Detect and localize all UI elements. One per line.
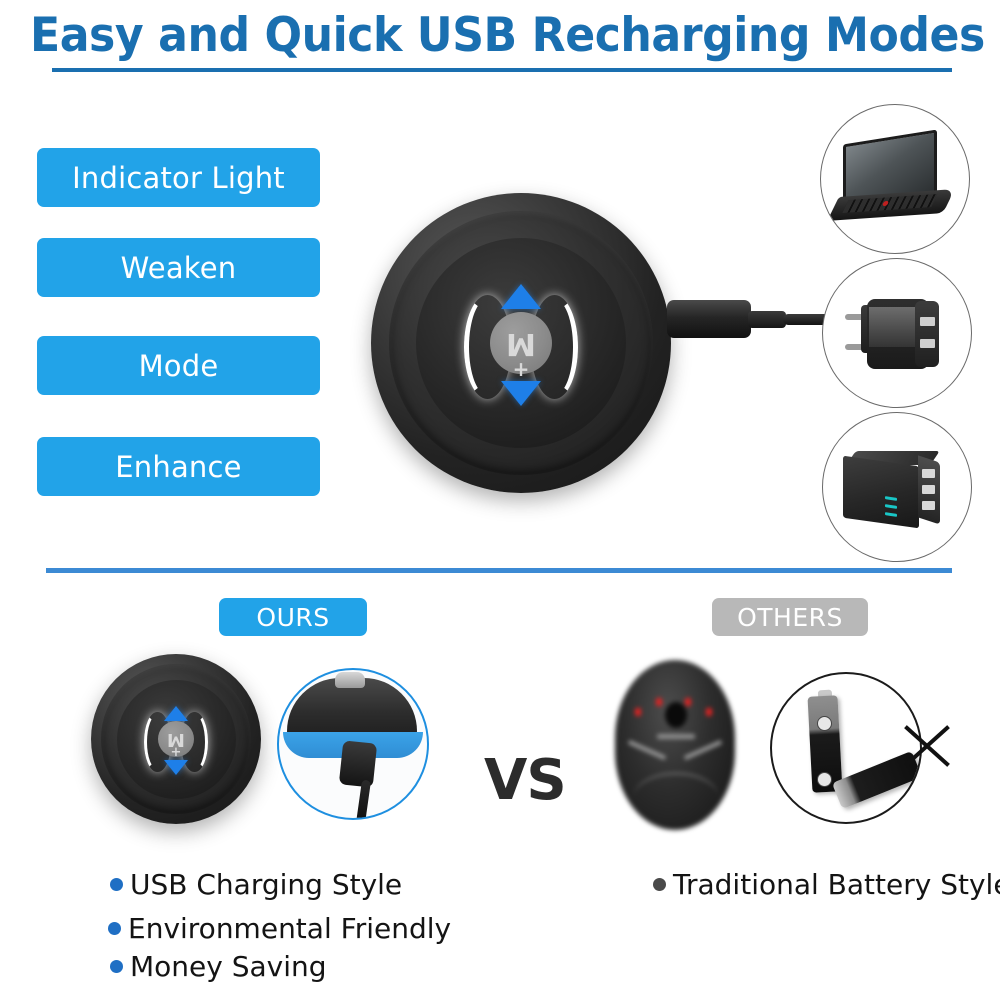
others-body-curve [633, 772, 719, 825]
list-item: Environmental Friendly [108, 912, 451, 945]
others-led-indicator [656, 698, 662, 706]
others-badge: OTHERS [712, 598, 868, 636]
weaken-triangle-up-icon [501, 284, 541, 309]
adapter-metal-band [869, 307, 919, 347]
section-divider [46, 568, 952, 573]
mode-button-label: M [506, 328, 536, 358]
enhance-triangle-down-icon [164, 760, 188, 775]
page-title: Easy and Quick USB Recharging Modes [30, 12, 970, 59]
plus-sign: + [513, 359, 530, 379]
usb-connector-icon [667, 300, 751, 338]
device-knob [335, 672, 365, 688]
others-wing-right [684, 740, 722, 760]
list-item: Traditional Battery Styles [653, 868, 1000, 901]
adapter-port-face [915, 301, 939, 367]
enhance-triangle-down-icon [501, 381, 541, 406]
list-item-label: Environmental Friendly [128, 912, 451, 945]
list-item-label: Money Saving [130, 950, 327, 983]
power-bank-body [843, 456, 919, 529]
battery-minus-mark [817, 772, 832, 787]
feature-label-text: Weaken [121, 251, 237, 285]
plus-sign: + [171, 746, 182, 759]
feature-label-mode: Mode [37, 336, 320, 395]
list-item: Money Saving [110, 950, 327, 983]
others-badge-label: OTHERS [737, 603, 843, 632]
others-led-indicator [706, 708, 712, 716]
power-bank-port [922, 469, 935, 478]
charging-port-closeup-icon [277, 668, 429, 820]
ours-badge: OURS [219, 598, 367, 636]
bullet-dot-icon [110, 960, 123, 973]
list-item: USB Charging Style [110, 868, 402, 901]
ours-badge-label: OURS [256, 603, 329, 632]
page-header: Easy and Quick USB Recharging Modes [0, 12, 1000, 59]
feature-label-enhance: Enhance [37, 437, 320, 496]
device-control-face: - M + [117, 680, 236, 799]
list-item-label: Traditional Battery Styles [673, 868, 1000, 901]
power-bank-port [922, 501, 935, 510]
bullet-dot-icon [108, 922, 121, 935]
feature-label-text: Indicator Light [72, 161, 285, 195]
cable-segment [748, 311, 786, 328]
battery-plus-mark [817, 716, 832, 731]
power-bank-port [922, 485, 935, 494]
ours-device-image: - M + [91, 654, 261, 824]
feature-label-text: Mode [139, 349, 219, 383]
others-center-hole [665, 702, 687, 728]
main-device-image: - M + [371, 193, 671, 493]
laptop-icon [820, 104, 970, 254]
feature-label-indicator-light: Indicator Light [37, 148, 320, 207]
feature-label-weaken: Weaken [37, 238, 320, 297]
adapter-usb-port [920, 317, 935, 326]
others-led-indicator [635, 708, 641, 716]
adapter-usb-port [920, 339, 935, 348]
power-bank-icon [822, 412, 972, 562]
weaken-triangle-up-icon [164, 706, 188, 721]
title-underline [52, 68, 952, 72]
others-device-image [615, 660, 735, 830]
cross-out-x-icon [898, 718, 956, 776]
versus-label: VS [484, 748, 566, 813]
others-wing-left [628, 740, 666, 760]
others-led-indicator [685, 698, 691, 706]
feature-label-text: Enhance [115, 450, 241, 484]
device-control-face: - M + [416, 238, 626, 448]
bullet-dot-icon [110, 878, 123, 891]
usb-wall-adapter-icon [822, 258, 972, 408]
bullet-dot-icon [653, 878, 666, 891]
usb-plug-icon [339, 740, 377, 787]
others-label-bar [657, 734, 695, 739]
list-item-label: USB Charging Style [130, 868, 402, 901]
